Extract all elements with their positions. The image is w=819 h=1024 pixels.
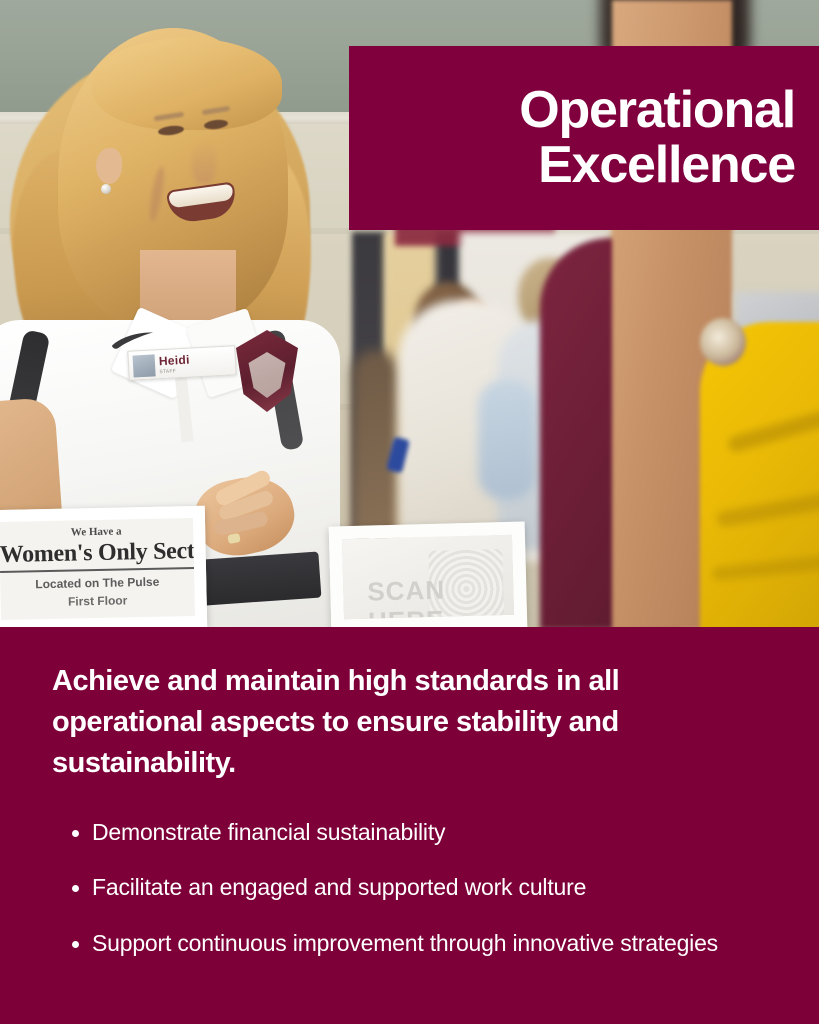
- name-badge-photo: [133, 354, 156, 377]
- foreground-person-necklace: [700, 318, 746, 366]
- title-banner: Operational Excellence: [349, 46, 819, 230]
- poster: Heidi STAFF We Have a Women's Only Secti…: [0, 0, 819, 1024]
- subheading: Achieve and maintain high standards in a…: [52, 661, 742, 785]
- sign-left-line-4: First Floor: [1, 592, 195, 610]
- nike-swoosh-icon: [110, 332, 156, 350]
- framed-sign-scan-here: SCAN HERE: [329, 521, 528, 627]
- subject-nose: [192, 140, 216, 184]
- list-item: Demonstrate financial sustainability: [52, 817, 767, 849]
- name-badge-name: Heidi: [159, 353, 191, 369]
- list-item: Facilitate an engaged and supported work…: [52, 872, 767, 904]
- sign-left-line-3: Located on The Pulse: [0, 574, 194, 592]
- sign-left-line-2: Women's Only Section: [0, 538, 194, 573]
- subject-bangs: [92, 38, 282, 130]
- background-person-blue-sleeve: [478, 380, 536, 500]
- sign-right-line-2: HERE: [368, 605, 445, 627]
- subject-ear: [96, 148, 122, 184]
- foreground-person-yellow-top: [700, 322, 819, 627]
- objectives-list: Demonstrate financial sustainability Fac…: [52, 817, 767, 960]
- subject-belt: [189, 552, 322, 607]
- content-band: Achieve and maintain high standards in a…: [0, 627, 819, 1024]
- list-item: Support continuous improvement through i…: [52, 928, 767, 960]
- framed-sign-womens-only: We Have a Women's Only Section Located o…: [0, 506, 207, 627]
- sign-right-line-1: SCAN: [367, 575, 445, 608]
- name-badge-subtitle: STAFF: [159, 368, 176, 375]
- name-badge: Heidi STAFF: [127, 345, 236, 381]
- earring-icon: [101, 184, 111, 194]
- title-line-2: Excellence: [538, 138, 795, 193]
- title-line-1: Operational: [519, 83, 795, 138]
